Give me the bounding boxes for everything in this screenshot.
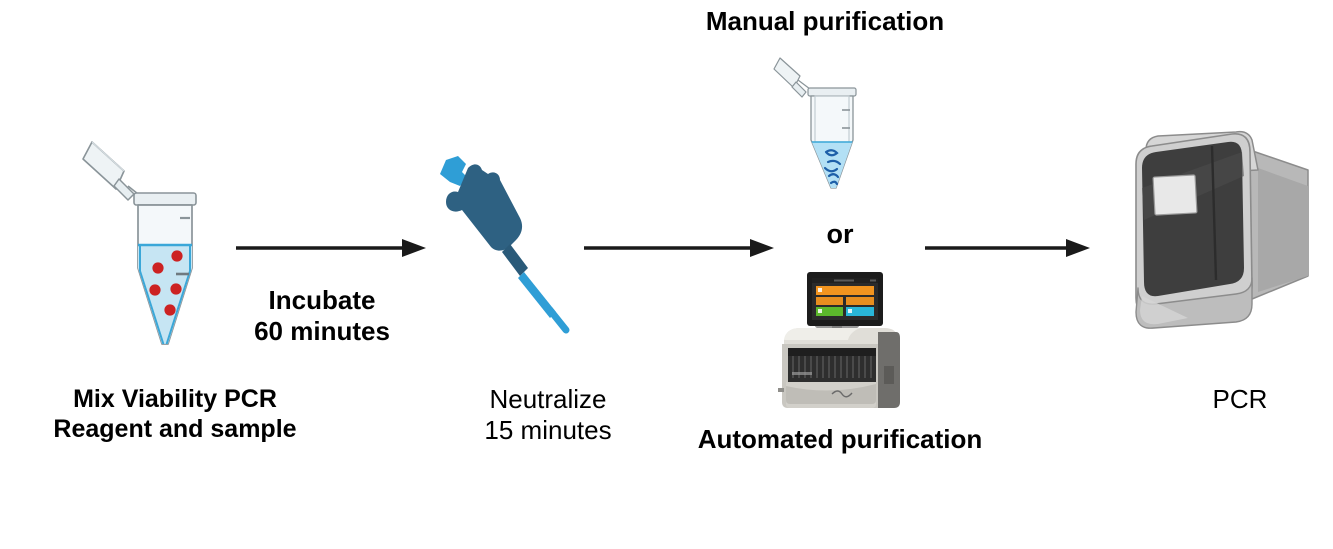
arrow-incubate-caption: Incubate 60 minutes — [222, 285, 422, 346]
manual-purification-illustration — [770, 52, 880, 192]
neutralize-step-illustration — [424, 152, 604, 342]
arrow-to-pcr — [925, 234, 1090, 262]
microcentrifuge-tube-with-sample-icon — [72, 128, 212, 358]
pcr-step-label: PCR — [1150, 384, 1330, 415]
automated-purification-illustration — [772, 262, 912, 412]
pcr-step-illustration — [1128, 128, 1318, 328]
neutralize-step-label: Neutralize 15 minutes — [448, 384, 648, 445]
or-label: or — [795, 219, 885, 251]
automated-purification-label: Automated purification — [640, 424, 1040, 455]
pcr-instrument-icon — [1128, 128, 1318, 328]
microcentrifuge-tube-dna-icon — [770, 52, 880, 192]
arrow-to-purification — [584, 234, 774, 262]
automated-purification-instrument-icon — [772, 262, 912, 412]
mix-step-illustration — [72, 128, 212, 358]
manual-purification-label: Manual purification — [630, 6, 1020, 37]
micropipette-icon — [424, 152, 604, 342]
mix-step-label: Mix Viability PCR Reagent and sample — [10, 385, 340, 444]
arrow-incubate — [236, 234, 426, 262]
workflow-diagram: Mix Viability PCR Reagent and sample Inc… — [0, 0, 1333, 549]
